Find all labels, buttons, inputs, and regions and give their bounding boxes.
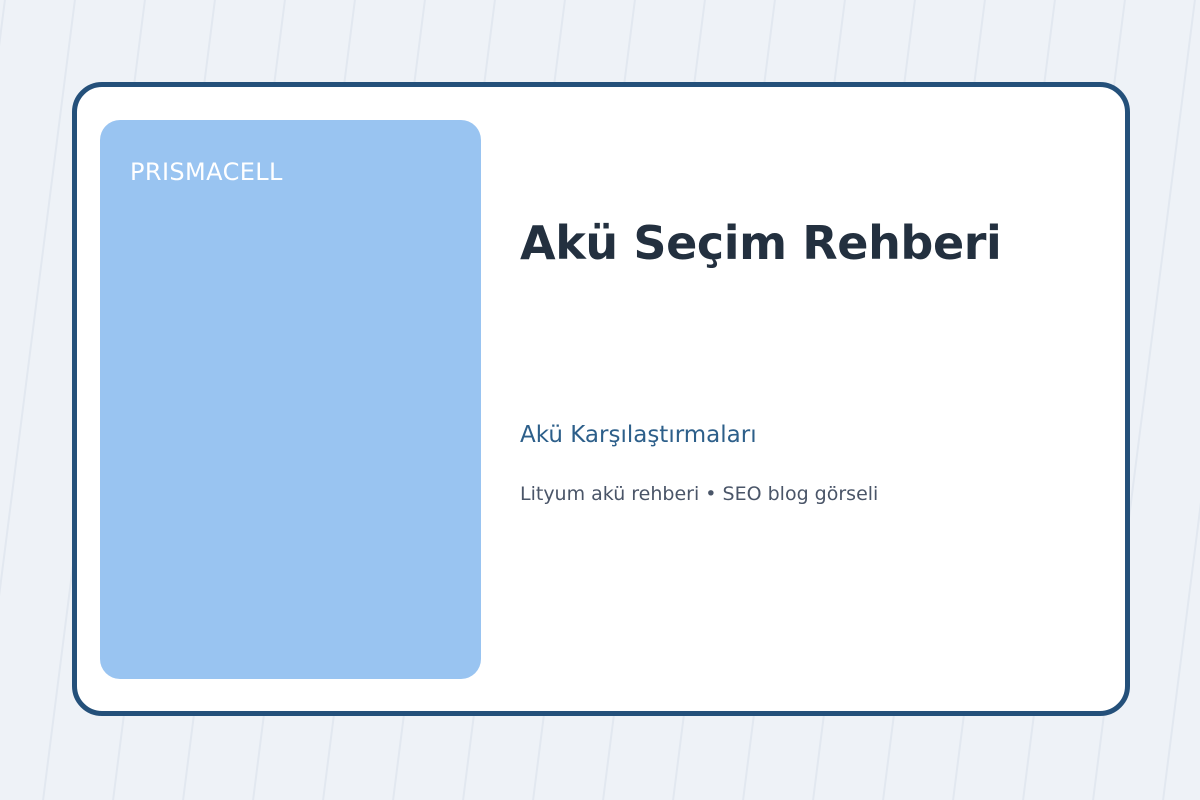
card-content: Akü Seçim Rehberi Akü Karşılaştırmaları … <box>520 87 1090 711</box>
page-title: Akü Seçim Rehberi <box>520 218 1001 269</box>
caption-meta: Lityum akü rehberi • SEO blog görseli <box>520 483 878 506</box>
article-card: PRISMACELL Akü Seçim Rehberi Akü Karşıla… <box>72 82 1130 716</box>
subtitle-category: Akü Karşılaştırmaları <box>520 422 757 450</box>
brand-image-panel: PRISMACELL <box>100 120 481 679</box>
brand-name-label: PRISMACELL <box>130 158 283 186</box>
